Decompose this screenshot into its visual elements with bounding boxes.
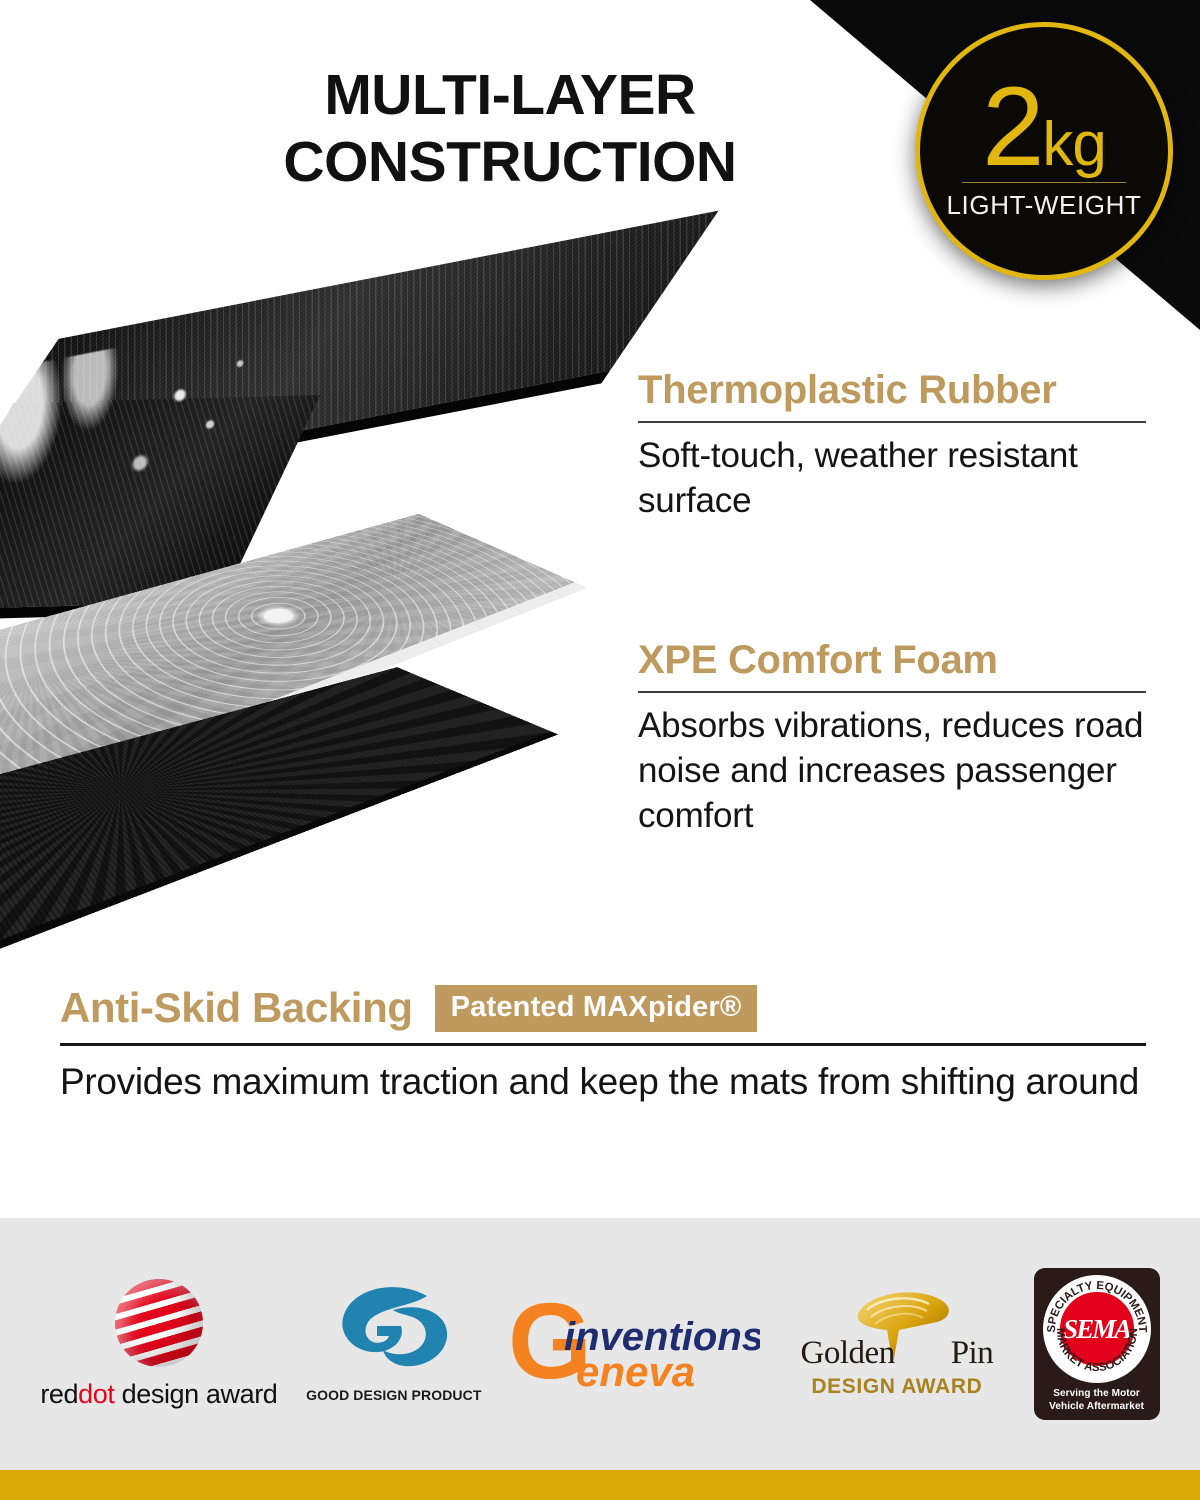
sema-badge: SPECIALTY EQUIPMENT MARKET ASSOCIATION S… (1034, 1268, 1160, 1420)
golden-pin-subtitle: DESIGN AWARD (789, 1375, 1005, 1399)
feature-anti-skid-backing: Anti-Skid Backing Patented MAXpider® Pro… (60, 984, 1146, 1106)
good-design-gd-icon (335, 1286, 453, 1375)
feature-description: Absorbs vibrations, reduces road noise a… (638, 704, 1146, 838)
feature-xpe-comfort-foam: XPE Comfort Foam Absorbs vibrations, red… (638, 638, 1146, 838)
feature-divider (60, 1043, 1146, 1046)
reddot-label: reddot design award (40, 1379, 277, 1410)
feature-divider (638, 421, 1146, 423)
golden-pin-logo: Golden Pin DESIGN AWARD (789, 1290, 1005, 1398)
golden-pin-wordmark: Golden Pin (789, 1335, 1005, 1372)
svg-text:MARKET ASSOCIATION: MARKET ASSOCIATION (1053, 1328, 1139, 1374)
feature-title: Thermoplastic Rubber (638, 368, 1146, 412)
award-sema: SPECIALTY EQUIPMENT MARKET ASSOCIATION S… (1034, 1268, 1160, 1420)
award-good-design: GOOD DESIGN PRODUCT (306, 1286, 481, 1403)
good-design-label: GOOD DESIGN PRODUCT (306, 1387, 481, 1403)
anti-skid-backing-layer (0, 642, 570, 942)
badge-weight-unit: kg (1042, 116, 1105, 173)
awards-band: reddot design award GOOD DESIGN PRODUCT … (0, 1218, 1200, 1470)
bottom-gold-bar (0, 1470, 1200, 1500)
feature-title: XPE Comfort Foam (638, 638, 1146, 682)
page-title-line-2: CONSTRUCTION (180, 129, 840, 196)
reddot-word-dot: dot (78, 1379, 114, 1409)
patented-maxpider-badge: Patented MAXpider® (435, 985, 758, 1032)
badge-weight-value: 2 kg (982, 75, 1106, 178)
feature-divider (638, 691, 1146, 693)
page-title: MULTI-LAYER CONSTRUCTION (180, 62, 840, 197)
reddot-word-rest: design award (115, 1379, 278, 1409)
golden-pin-word-golden: Golden (801, 1335, 895, 1372)
feature-title: Anti-Skid Backing (60, 984, 413, 1032)
inventions-geneva-logo: G inventions eneva G inventions eneva (510, 1298, 760, 1390)
feature-description: Provides maximum traction and keep the m… (60, 1058, 1146, 1106)
svg-text:eneva: eneva (576, 1348, 695, 1390)
light-weight-badge: 2 kg LIGHT-WEIGHT (915, 22, 1173, 280)
page-title-line-1: MULTI-LAYER (180, 62, 840, 129)
anti-skid-heading-row: Anti-Skid Backing Patented MAXpider® (60, 984, 1146, 1032)
sema-ring: SPECIALTY EQUIPMENT MARKET ASSOCIATION S… (1043, 1275, 1151, 1383)
badge-divider (962, 182, 1126, 183)
golden-pin-word-pin: Pin (951, 1335, 994, 1372)
feature-thermoplastic-rubber: Thermoplastic Rubber Soft-touch, weather… (638, 368, 1146, 524)
sema-tagline: Serving the Motor Vehicle Aftermarket (1049, 1388, 1144, 1413)
award-reddot: reddot design award (40, 1279, 277, 1410)
badge-caption: LIGHT-WEIGHT (947, 190, 1142, 221)
reddot-word-red: red (40, 1379, 78, 1409)
award-inventions-geneva: G inventions eneva G inventions eneva (510, 1298, 760, 1390)
feature-description: Soft-touch, weather resistant surface (638, 434, 1146, 524)
svg-text:SPECIALTY EQUIPMENT: SPECIALTY EQUIPMENT (1045, 1280, 1147, 1333)
sema-tagline-line-2: Vehicle Aftermarket (1049, 1401, 1144, 1414)
sema-tagline-line-1: Serving the Motor (1049, 1388, 1144, 1401)
reddot-globe-icon (115, 1279, 203, 1367)
award-golden-pin: Golden Pin DESIGN AWARD (789, 1290, 1005, 1398)
badge-weight-number: 2 (982, 75, 1042, 178)
product-exploded-view (0, 250, 660, 970)
backing-fiber-texture (0, 667, 558, 964)
